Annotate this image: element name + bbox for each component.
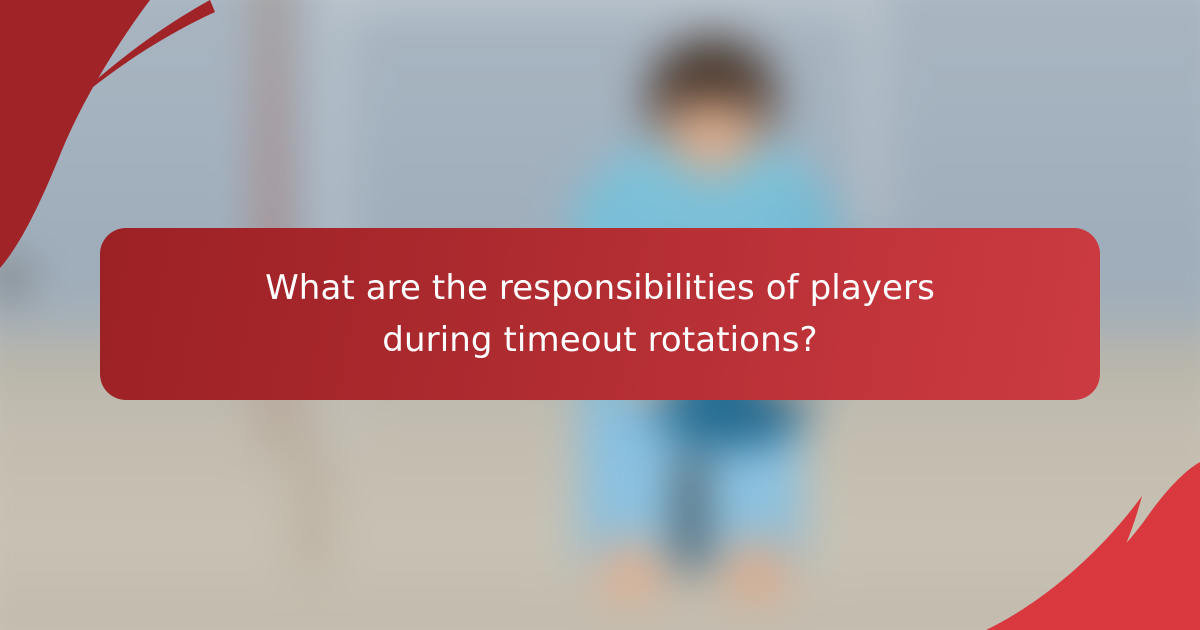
subject-hair [652,46,772,104]
question-card: What are the responsibilities of players… [100,228,1100,400]
question-text: What are the responsibilities of players… [250,262,950,366]
subject-left-leg [596,540,666,600]
subject-shorts-shadow [678,452,704,572]
background-distant-figure [290,380,334,580]
subject-right-leg [720,540,790,600]
goal-frame-right-post [865,0,877,230]
question-card-canvas: What are the responsibilities of players… [0,0,1200,630]
